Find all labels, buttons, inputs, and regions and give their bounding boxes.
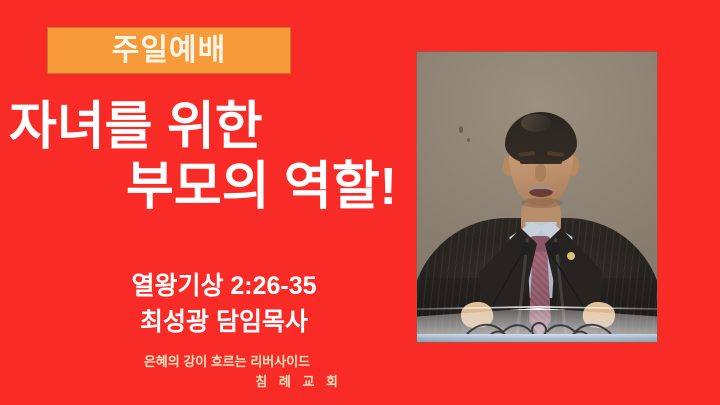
sermon-title-card: 주일예배 자녀를 위한 부모의 역할! 열왕기상 2:26-35 최성광 담임목… bbox=[0, 0, 720, 405]
church-name: 침 례 교 회 bbox=[98, 372, 356, 392]
sermon-title: 자녀를 위한 부모의 역할! bbox=[0, 97, 410, 218]
sermon-details: 열왕기상 2:26-35 최성광 담임목사 bbox=[99, 269, 349, 340]
preacher-photo bbox=[417, 52, 657, 342]
scripture-reference: 열왕기상 2:26-35 bbox=[99, 269, 349, 305]
preacher-name: 최성광 담임목사 bbox=[99, 305, 349, 341]
service-type-badge: 주일예배 bbox=[47, 27, 291, 74]
sermon-title-line-2: 부모의 역할! bbox=[0, 157, 410, 217]
sermon-title-line-1: 자녀를 위한 bbox=[0, 97, 410, 157]
church-tagline: 은혜의 강이 흐르는 리버사이드 bbox=[98, 352, 356, 372]
church-identity: 은혜의 강이 흐르는 리버사이드 침 례 교 회 bbox=[98, 352, 356, 392]
service-type-badge-label: 주일예배 bbox=[112, 36, 226, 66]
photo-vignette bbox=[417, 52, 657, 342]
